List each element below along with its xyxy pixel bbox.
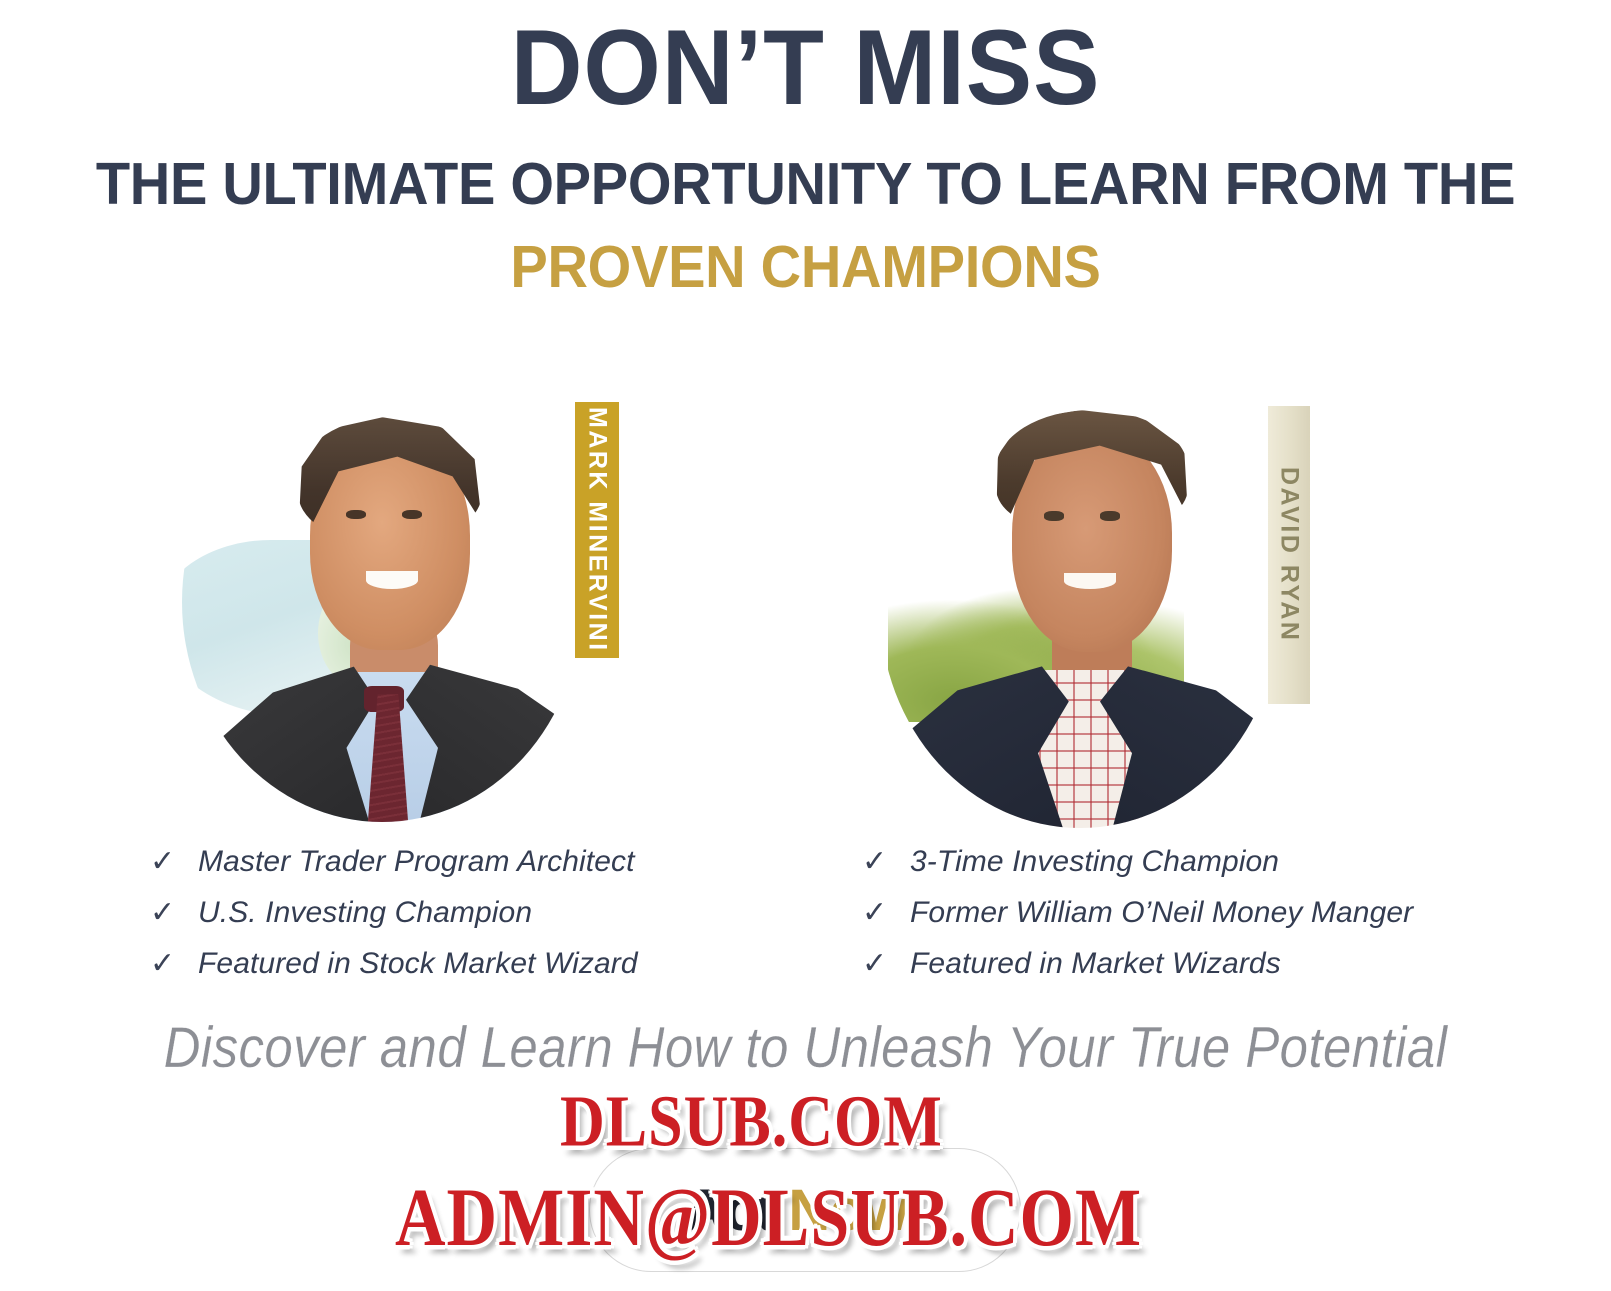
portrait-eye-left xyxy=(346,510,366,520)
speaker-portrait-mark-minervini xyxy=(182,382,582,822)
speaker-name-banner-mark-minervini: MARK MINERVINI xyxy=(575,402,619,658)
watermark-site: DLSUB.COM xyxy=(560,1081,943,1165)
list-item: ✓ Featured in Market Wizards xyxy=(862,947,1413,980)
check-icon: ✓ xyxy=(150,898,198,928)
speaker-card-david-ryan: DAVID RYAN xyxy=(880,388,1330,838)
check-icon: ✓ xyxy=(862,847,910,877)
check-icon: ✓ xyxy=(150,949,198,979)
tagline: Discover and Learn How to Unleash Your T… xyxy=(0,1014,1611,1080)
headline-line-1: DON’T MISS xyxy=(56,14,1554,121)
portrait-eye-left xyxy=(1044,511,1064,521)
speaker-name-banner-david-ryan: DAVID RYAN xyxy=(1268,406,1310,704)
list-item: ✓ 3-Time Investing Champion xyxy=(862,845,1413,878)
headline-line-2: THE ULTIMATE OPPORTUNITY TO LEARN FROM T… xyxy=(40,155,1570,214)
portrait-smile xyxy=(1064,573,1116,589)
list-item-label: U.S. Investing Champion xyxy=(198,896,532,929)
portrait-eye-right xyxy=(402,510,422,520)
list-item-label: 3-Time Investing Champion xyxy=(910,845,1279,878)
list-item-label: Former William O’Neil Money Manger xyxy=(910,896,1413,929)
check-icon: ✓ xyxy=(862,949,910,979)
watermark-email: ADMIN@DLSUB.COM xyxy=(395,1172,1142,1266)
list-item-label: Featured in Stock Market Wizard xyxy=(198,947,638,980)
check-icon: ✓ xyxy=(862,898,910,928)
check-icon: ✓ xyxy=(150,847,198,877)
list-item: ✓ Master Trader Program Architect xyxy=(150,845,638,878)
list-item: ✓ U.S. Investing Champion xyxy=(150,896,638,929)
portrait-eye-right xyxy=(1100,511,1120,521)
headline-block: DON’T MISS THE ULTIMATE OPPORTUNITY TO L… xyxy=(0,0,1611,297)
speaker-portrait-david-ryan xyxy=(880,388,1280,828)
speaker-bullets-mark-minervini: ✓ Master Trader Program Architect ✓ U.S.… xyxy=(150,845,638,998)
speaker-bullets-david-ryan: ✓ 3-Time Investing Champion ✓ Former Wil… xyxy=(862,845,1413,998)
headline-line-3: PROVEN CHAMPIONS xyxy=(40,238,1570,297)
list-item: ✓ Featured in Stock Market Wizard xyxy=(150,947,638,980)
speaker-card-mark-minervini: MARK MINERVINI xyxy=(182,382,632,832)
list-item: ✓ Former William O’Neil Money Manger xyxy=(862,896,1413,929)
portrait-smile xyxy=(366,571,418,589)
list-item-label: Featured in Market Wizards xyxy=(910,947,1281,980)
portrait-face xyxy=(1012,432,1172,652)
list-item-label: Master Trader Program Architect xyxy=(198,845,635,878)
